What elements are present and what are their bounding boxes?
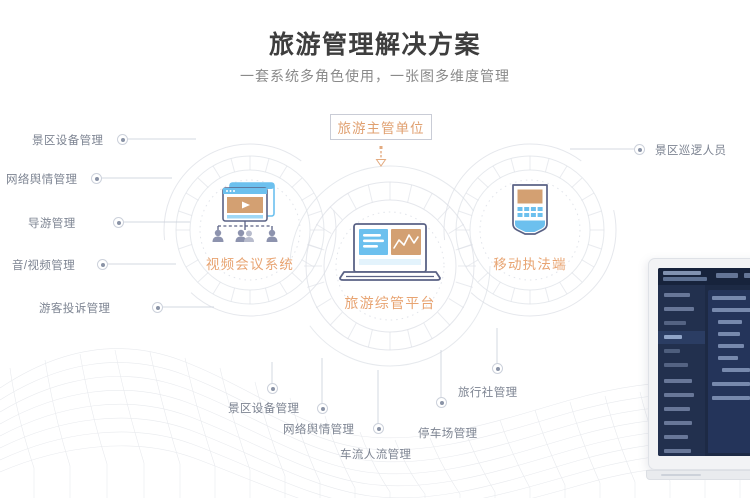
node-mobile-enforcement[interactable]: 移动执法端 [482, 182, 578, 273]
laptop-lid [648, 258, 750, 470]
dotted-down-arrow-icon [374, 146, 388, 168]
solution-diagram-page: 旅游管理解决方案 一套系统多角色使用，一张图多维度管理 旅游主管单位 [0, 0, 750, 498]
dashboard-logo-line-2 [663, 277, 707, 281]
leaf-label-travel-agency: 旅行社管理 [458, 384, 518, 400]
laptop-trackpad-notch [661, 474, 701, 476]
node-video-conference-label: 视频会议系统 [200, 253, 300, 273]
connector-dot-bottom-1 [267, 383, 278, 394]
video-conference-icon [200, 180, 300, 244]
main-row-1[interactable] [712, 296, 746, 300]
node-central-platform[interactable]: 旅游综管平台 [330, 222, 450, 313]
connector-dot-left-4 [97, 259, 108, 270]
dashboard-topbar-tab-1[interactable] [716, 273, 738, 278]
dashboard-topbar-tab-2[interactable] [744, 273, 750, 278]
sidebar-item-9[interactable] [664, 407, 690, 411]
connector-dot-left-5 [152, 302, 163, 313]
mobile-enforcement-terminal-icon [482, 182, 578, 244]
badge-edge-bottom [341, 139, 421, 140]
main-row-3[interactable] [718, 320, 742, 324]
sidebar-item-2[interactable] [664, 307, 694, 311]
main-row-2[interactable] [712, 308, 750, 312]
leaf-label-traffic-flow: 车流人流管理 [340, 446, 411, 462]
background-mesh-decoration [0, 308, 750, 498]
leaf-label-av-management: 音/视频管理 [12, 257, 75, 273]
laptop-dashboard-icon [330, 222, 450, 284]
connector-dot-bottom-4 [436, 397, 447, 408]
leaf-label-tourist-complaint: 游客投诉管理 [39, 300, 110, 316]
badge-edge-right [431, 125, 432, 129]
dashboard-sidebar [658, 285, 705, 456]
sidebar-item-3[interactable] [664, 321, 686, 325]
sidebar-item-1[interactable] [664, 293, 690, 297]
authority-badge-label: 旅游主管单位 [338, 117, 425, 137]
main-row-7[interactable] [722, 368, 750, 372]
leaf-label-parking: 停车场管理 [418, 425, 478, 441]
connector-dot-bottom-2 [317, 403, 328, 414]
dashboard-screen [658, 268, 750, 456]
connector-dot-left-3 [113, 217, 124, 228]
badge-corner-top-left [330, 114, 342, 126]
page-title: 旅游管理解决方案 [0, 25, 750, 61]
laptop-base [646, 470, 750, 480]
sidebar-item-6[interactable] [664, 363, 688, 367]
leaf-label-scenic-patrol: 景区巡逻人员 [655, 142, 726, 158]
main-row-4[interactable] [718, 332, 740, 336]
connector-dot-left-1 [117, 134, 128, 145]
leaf-label-scenic-equipment-left: 景区设备管理 [32, 132, 103, 148]
badge-corner-bottom-right [420, 128, 432, 140]
badge-edge-top [341, 114, 421, 115]
sidebar-item-4[interactable] [664, 335, 682, 339]
main-row-8[interactable] [712, 382, 750, 386]
badge-edge-left [330, 125, 331, 129]
connector-dot-right-1 [634, 144, 645, 155]
connector-dot-bottom-5 [492, 363, 503, 374]
main-row-9[interactable] [712, 396, 750, 400]
sidebar-item-5[interactable] [664, 349, 680, 353]
sidebar-item-10[interactable] [664, 421, 692, 425]
dashboard-logo-line-1 [663, 271, 701, 275]
leaf-label-tour-guide: 导游管理 [28, 215, 76, 231]
leaf-label-scenic-equipment-bottom: 景区设备管理 [228, 400, 299, 416]
connector-dot-left-2 [91, 173, 102, 184]
page-subtitle: 一套系统多角色使用，一张图多维度管理 [0, 66, 750, 86]
leaf-label-public-opinion-left: 网络舆情管理 [6, 171, 77, 187]
sidebar-item-11[interactable] [664, 435, 688, 439]
leaf-label-public-opinion-bottom: 网络舆情管理 [283, 421, 354, 437]
node-video-conference[interactable]: 视频会议系统 [200, 180, 300, 273]
dashboard-main-panel [708, 290, 750, 453]
main-row-5[interactable] [718, 344, 744, 348]
node-central-platform-label: 旅游综管平台 [330, 293, 450, 313]
sidebar-item-8[interactable] [664, 393, 694, 397]
authority-badge: 旅游主管单位 [330, 114, 432, 140]
sidebar-item-12[interactable] [664, 449, 691, 453]
connector-dot-bottom-3 [373, 423, 384, 434]
sidebar-item-7[interactable] [664, 379, 692, 383]
main-row-6[interactable] [718, 356, 738, 360]
node-mobile-enforcement-label: 移动执法端 [482, 253, 578, 273]
